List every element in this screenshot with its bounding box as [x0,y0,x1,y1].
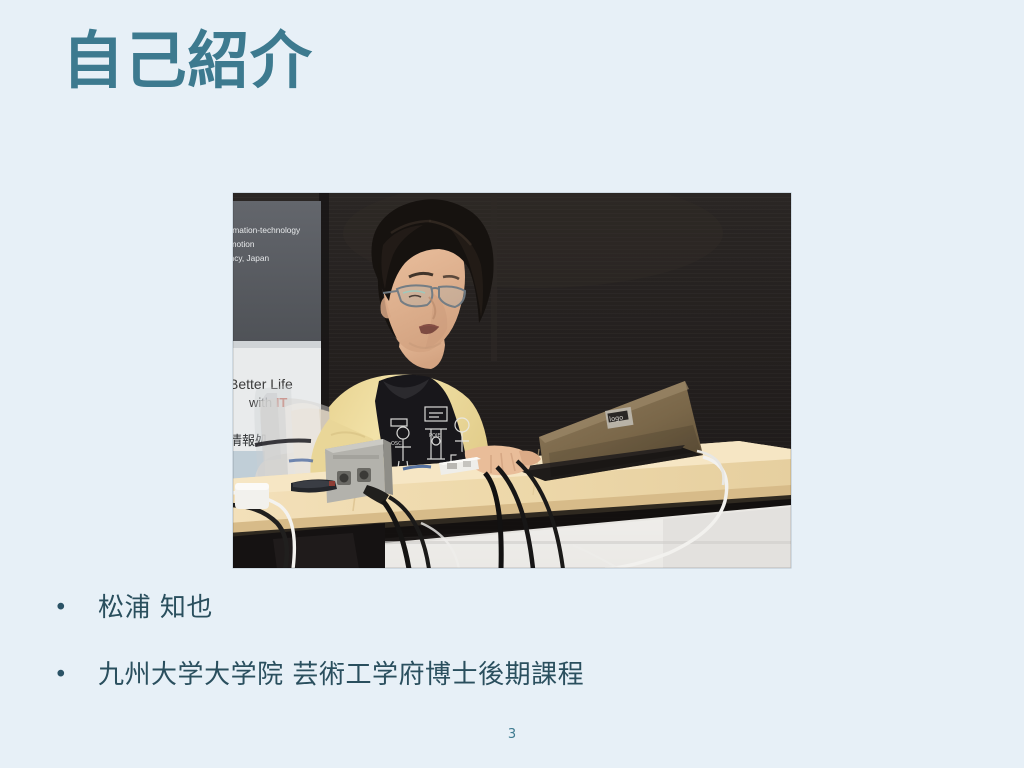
list-item: • 九州大学大学院 芸術工学府博士後期課程 [48,655,978,695]
bullet-list: • 松浦 知也 • 九州大学大学院 芸術工学府博士後期課程 [48,588,978,722]
page-number: 3 [0,727,1024,742]
banner-line-3: ency, Japan [233,253,270,263]
svg-text:OSC: OSC [391,441,402,447]
svg-text:POIE: POIE [429,433,441,439]
bullet-text: 松浦 知也 [98,588,978,628]
photo-illustration: ormation-technology omotion ency, Japan … [233,193,791,568]
slide-canvas: 自己紹介 [0,0,1024,768]
banner-line-2: omotion [233,239,255,249]
bullet-marker: • [48,588,98,628]
list-item: • 松浦 知也 [48,588,978,628]
page-title: 自己紹介 [62,26,312,95]
bullet-text: 九州大学大学院 芸術工学府博士後期課程 [98,655,978,695]
banner-line-1: ormation-technology [233,225,301,235]
presentation-photo: ormation-technology omotion ency, Japan … [233,193,791,568]
bullet-marker: • [48,655,98,695]
